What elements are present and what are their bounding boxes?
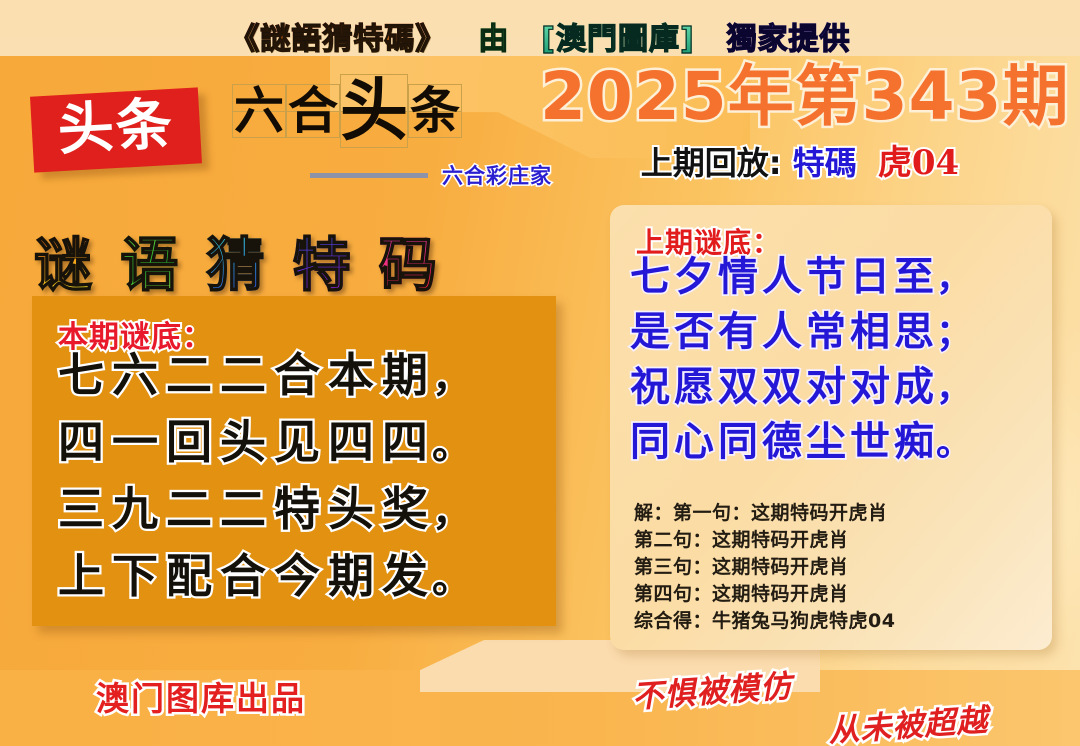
riddle-punctuation: ； [936,315,966,351]
riddle-punctuation: ， [936,370,966,406]
brand-box-char-text: 头 [340,77,408,145]
riddle-char: 三 [54,486,108,532]
header-exclusive: 獨家提供 [727,14,851,58]
riddle-char: 二 [162,486,216,532]
previous-riddle-verses: 七夕情人节日至，是否有人常相思；祝愿双双对对成，同心同德尘世痴。 [628,257,1044,477]
header-source: [澳門圖庫] [541,14,694,58]
riddle-char: 世 [848,422,892,462]
explanation-row: 第三句：这期特码开虎肖 [634,554,1042,581]
brand-box-char: 条 [408,84,462,138]
riddle-char: 七 [54,352,108,398]
replay-type: 特碼 [793,147,857,179]
riddle-char: 四 [378,419,432,465]
riddle-char: 九 [108,486,162,532]
current-riddle-panel: 本期谜底： 七六二二合本期，四一回头见四四。三九二二特头奖，上下配合今期发。 [32,296,556,626]
dealer-row: 六合彩庄家 [310,160,552,190]
producer-label: 澳门图库出品 [96,672,306,720]
riddle-char: 头 [324,486,378,532]
current-riddle-lines: 七六二二合本期，四一回头见四四。三九二二特头奖，上下配合今期发。 [54,352,546,620]
riddle-char: 四 [324,419,378,465]
replay-label: 上期回放: [641,147,782,179]
verse-line: 祝愿双双对对成， [628,367,1044,422]
issue-title: 2025年第343期 [540,64,1060,130]
riddle-char: 情 [716,257,760,297]
riddle-char: 有 [716,312,760,352]
riddle-line: 三九二二特头奖， [54,486,546,553]
dealer-divider [310,173,428,178]
poster-root: 《謎語猜特碼》 由 [澳門圖庫] 獨家提供 头条 六 合 头 条 六合彩庄家 2… [0,0,1080,746]
brand-badge: 头条 [30,87,202,172]
riddle-char: 节 [804,257,848,297]
riddle-char: 至 [892,257,936,297]
riddle-char: 头 [216,419,270,465]
brand-box-char-text: 条 [410,86,460,136]
explanation-row: 综合得：牛猪兔马狗虎特虎04 [634,608,1042,635]
riddle-punctuation: 。 [936,425,966,461]
riddle-char: 合 [270,352,324,398]
riddle-char: 对 [804,367,848,407]
riddle-char: 双 [760,367,804,407]
riddle-char: 人 [760,257,804,297]
verse-line: 同心同德尘世痴。 [628,422,1044,477]
rainbow-title-char: 谜 [34,236,96,294]
explanation-row: 第四句：这期特码开虎肖 [634,581,1042,608]
riddle-char: 期 [324,553,378,599]
rainbow-title-char: 码 [379,236,441,294]
riddle-char: 双 [716,367,760,407]
riddle-char: 相 [848,312,892,352]
riddle-char: 奖 [378,486,432,532]
brand-box-char-text: 六 [234,86,284,136]
header-title: 《謎語猜特碼》 [229,14,446,58]
explanation-row: 第二句：这期特码开虎肖 [634,527,1042,554]
riddle-char: 发 [378,553,432,599]
riddle-char: 期 [378,352,432,398]
riddle-char: 是 [628,312,672,352]
brand-box-char-text: 合 [288,86,338,136]
riddle-char: 否 [672,312,716,352]
verse-line: 七夕情人节日至， [628,257,1044,312]
riddle-punctuation: ， [432,358,466,398]
riddle-char: 思 [892,312,936,352]
riddle-char: 二 [162,352,216,398]
riddle-char: 七 [628,257,672,297]
riddle-char: 六 [108,352,162,398]
verse-line: 是否有人常相思； [628,312,1044,367]
riddle-char: 本 [324,352,378,398]
brand-badge-label: 头条 [56,97,175,159]
riddle-char: 二 [216,352,270,398]
riddle-char: 成 [892,367,936,407]
dealer-label: 六合彩庄家 [442,160,552,190]
riddle-char: 下 [108,553,162,599]
riddle-line: 四一回头见四四。 [54,419,546,486]
riddle-char: 祝 [628,367,672,407]
riddle-char: 同 [716,422,760,462]
riddle-line: 上下配合今期发。 [54,553,546,620]
riddle-char: 上 [54,553,108,599]
header-tagline: 《謎語猜特碼》 由 [澳門圖庫] 獨家提供 [0,14,1080,58]
riddle-char: 配 [162,553,216,599]
riddle-char: 尘 [804,422,848,462]
previous-riddle-panel: 上期谜底： 七夕情人节日至，是否有人常相思；祝愿双双对对成，同心同德尘世痴。 解… [610,205,1052,650]
rainbow-title-char: 特 [293,236,355,294]
riddle-char: 愿 [672,367,716,407]
rainbow-title-char: 猜 [206,236,268,294]
riddle-char: 痴 [892,422,936,462]
riddle-char: 人 [760,312,804,352]
riddle-char: 回 [162,419,216,465]
replay-row: 上期回放: 特碼 虎04 [540,146,1060,180]
replay-result: 虎04 [878,146,959,180]
riddle-punctuation: ， [936,260,966,296]
rainbow-title-char: 语 [120,236,182,294]
brand-boxed-title: 六 合 头 条 [232,84,462,148]
brand-box-char: 六 [232,84,286,138]
riddle-char: 今 [270,553,324,599]
riddle-char: 同 [628,422,672,462]
explanation-row: 解：第一句：这期特码开虎肖 [634,500,1042,527]
riddle-punctuation: 。 [432,425,466,465]
riddle-char: 合 [216,553,270,599]
riddle-line: 七六二二合本期， [54,352,546,419]
riddle-char: 夕 [672,257,716,297]
explanation-block: 解：第一句：这期特码开虎肖第二句：这期特码开虎肖第三句：这期特码开虎肖第四句：这… [634,500,1042,635]
header-by-label: 由 [478,14,509,58]
brand-box-char: 头 [340,74,408,148]
riddle-char: 心 [672,422,716,462]
riddle-char: 对 [848,367,892,407]
brand-box-char: 合 [286,84,340,138]
riddle-punctuation: ， [432,492,466,532]
riddle-punctuation: 。 [432,559,466,599]
riddle-char: 一 [108,419,162,465]
riddle-char: 特 [270,486,324,532]
riddle-char: 日 [848,257,892,297]
rainbow-title: 谜 语 猜 特 码 [34,236,441,294]
riddle-char: 常 [804,312,848,352]
riddle-char: 二 [216,486,270,532]
riddle-char: 四 [54,419,108,465]
riddle-char: 德 [760,422,804,462]
riddle-char: 见 [270,419,324,465]
